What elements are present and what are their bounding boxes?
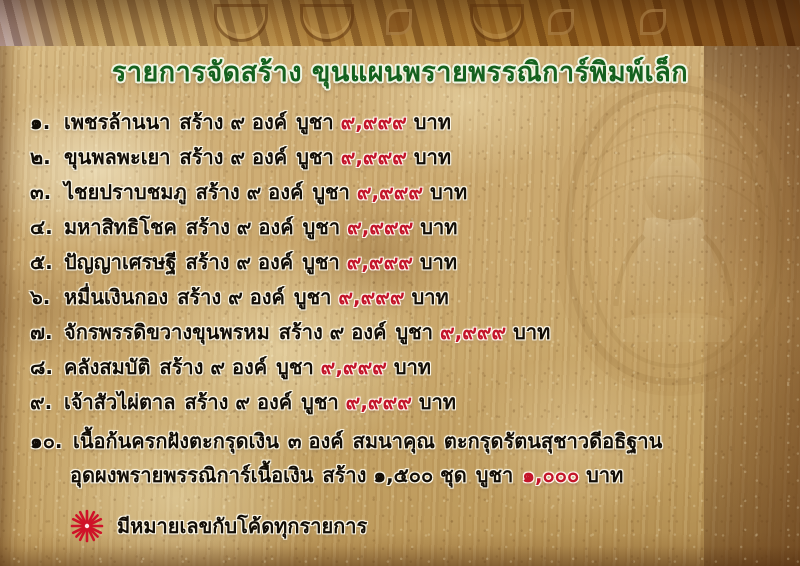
item-name: เพชรล้านนา	[64, 106, 170, 138]
item-price: ๙,๙๙๙	[347, 246, 413, 278]
footer-text: มีหมายเลขกับโค้ดทุกรายการ	[117, 510, 367, 542]
worship-label: บูชา	[303, 211, 341, 243]
currency-unit: บาท	[394, 351, 431, 383]
currency-unit: บาท	[420, 246, 457, 278]
item-price: ๑,๐๐๐	[522, 459, 579, 491]
worship-label: บูชา	[476, 459, 514, 491]
currency-unit: บาท	[414, 106, 451, 138]
item-qty: ๓ องค์	[288, 425, 344, 457]
item-price: ๙,๙๙๙	[357, 176, 423, 208]
worship-label: บูชา	[294, 281, 332, 313]
item-qty: สร้าง ๙ องค์	[186, 211, 294, 243]
item-number: ๔.	[30, 211, 64, 243]
item-number: ๖.	[30, 281, 64, 313]
currency-unit: บาท	[414, 141, 451, 173]
item-name: จักรพรรดิขวางขุนพรหม	[64, 316, 270, 348]
currency-unit: บาท	[513, 316, 550, 348]
item-number: ๕.	[30, 246, 64, 278]
red-starburst-icon	[70, 509, 104, 543]
item-number: ๘.	[30, 351, 64, 383]
item-price: ๙,๙๙๙	[341, 106, 407, 138]
amulet-list: ๑. เพชรล้านนา สร้าง ๙ องค์ บูชา ๙,๙๙๙ บา…	[30, 106, 770, 493]
currency-unit: บาท	[412, 281, 449, 313]
item-number: ๗.	[30, 316, 64, 348]
list-item-10-line-1: ๑๐. เนื้อก้นครกฝังตะกรุดเงิน ๓ องค์ สมนา…	[30, 425, 770, 459]
item-number: ๙.	[30, 386, 64, 418]
item-qty: สร้าง ๙ องค์	[180, 141, 288, 173]
item-name: หมื่นเงินกอง	[64, 281, 168, 313]
currency-unit: บาท	[430, 176, 467, 208]
item-name: คลังสมบัติ	[64, 351, 150, 383]
item-qty: สร้าง ๙ องค์	[196, 176, 304, 208]
item-price: ๙,๙๙๙	[338, 281, 404, 313]
item-price: ๙,๙๙๙	[347, 211, 413, 243]
currency-unit: บาท	[586, 459, 623, 491]
item-name: ปัญญาเศรษฐี	[64, 246, 177, 278]
item-price: ๙,๙๙๙	[440, 316, 506, 348]
worship-label: บูชา	[276, 351, 314, 383]
item-number: ๑.	[30, 106, 64, 138]
item-qty: สร้าง ๑,๕๐๐ ชุด	[322, 459, 466, 491]
item-name: ไชยปราบชมภู	[64, 176, 187, 208]
item-qty: สร้าง ๙ องค์	[279, 316, 387, 348]
item-qty: สร้าง ๙ องค์	[177, 281, 285, 313]
item-name: เนื้อก้นครกฝังตะกรุดเงิน	[73, 425, 279, 457]
list-item: ๘. คลังสมบัติ สร้าง ๙ องค์ บูชา ๙,๙๙๙ บา…	[30, 351, 770, 386]
list-item: ๑. เพชรล้านนา สร้าง ๙ องค์ บูชา ๙,๙๙๙ บา…	[30, 106, 770, 141]
worship-label: บูชา	[395, 316, 433, 348]
item-name: ขุนพลพะเยา	[64, 141, 171, 173]
worship-label: บูชา	[301, 386, 339, 418]
item-number: ๓.	[30, 176, 64, 208]
worship-label: บูชา	[296, 141, 334, 173]
worship-label: บูชา	[302, 246, 340, 278]
item-qty: สร้าง ๙ องค์	[186, 246, 294, 278]
currency-unit: บาท	[419, 386, 456, 418]
list-item: ๒. ขุนพลพะเยา สร้าง ๙ องค์ บูชา ๙,๙๙๙ บา…	[30, 141, 770, 176]
bonus-item-name: ตะกรุดรัตนสุชาวดีอธิฐาน	[444, 425, 662, 457]
item-number: ๑๐.	[30, 425, 64, 457]
list-item: ๖. หมื่นเงินกอง สร้าง ๙ องค์ บูชา ๙,๙๙๙ …	[30, 281, 770, 316]
item-price: ๙,๙๙๙	[341, 141, 407, 173]
item-price: ๙,๙๙๙	[346, 386, 412, 418]
item-name: มหาสิทธิโชค	[64, 211, 177, 243]
worship-label: บูชา	[312, 176, 350, 208]
item-name: อุดผงพรายพรรณิการ์เนื้อเงิน	[70, 459, 313, 491]
list-item: ๔. มหาสิทธิโชค สร้าง ๙ องค์ บูชา ๙,๙๙๙ บ…	[30, 211, 770, 246]
currency-unit: บาท	[420, 211, 457, 243]
amulet-price-list-poster: รายการจัดสร้าง ขุนแผนพรายพรรณิการ์พิมพ์เ…	[0, 0, 800, 566]
item-qty: สร้าง ๙ องค์	[159, 351, 267, 383]
item-qty: สร้าง ๙ องค์	[179, 106, 287, 138]
item-name: เจ้าสัวไผ่ตาล	[64, 386, 175, 418]
item-price: ๙,๙๙๙	[321, 351, 387, 383]
list-item: ๗. จักรพรรดิขวางขุนพรหม สร้าง ๙ องค์ บูช…	[30, 316, 770, 351]
list-item-10-line-2: อุดผงพรายพรรณิการ์เนื้อเงิน สร้าง ๑,๕๐๐ …	[30, 459, 770, 493]
item-number: ๒.	[30, 141, 64, 173]
list-item: ๙. เจ้าสัวไผ่ตาล สร้าง ๙ องค์ บูชา ๙,๙๙๙…	[30, 386, 770, 421]
list-item-10: ๑๐. เนื้อก้นครกฝังตะกรุดเงิน ๓ องค์ สมนา…	[30, 425, 770, 493]
footer-note: มีหมายเลขกับโค้ดทุกรายการ	[70, 509, 367, 543]
page-title: รายการจัดสร้าง ขุนแผนพรายพรรณิการ์พิมพ์เ…	[0, 50, 800, 93]
bonus-label: สมนาคุณ	[353, 425, 435, 457]
worship-label: บูชา	[296, 106, 334, 138]
list-item: ๕. ปัญญาเศรษฐี สร้าง ๙ องค์ บูชา ๙,๙๙๙ บ…	[30, 246, 770, 281]
item-qty: สร้าง ๙ องค์	[184, 386, 292, 418]
list-item: ๓. ไชยปราบชมภู สร้าง ๙ องค์ บูชา ๙,๙๙๙ บ…	[30, 176, 770, 211]
